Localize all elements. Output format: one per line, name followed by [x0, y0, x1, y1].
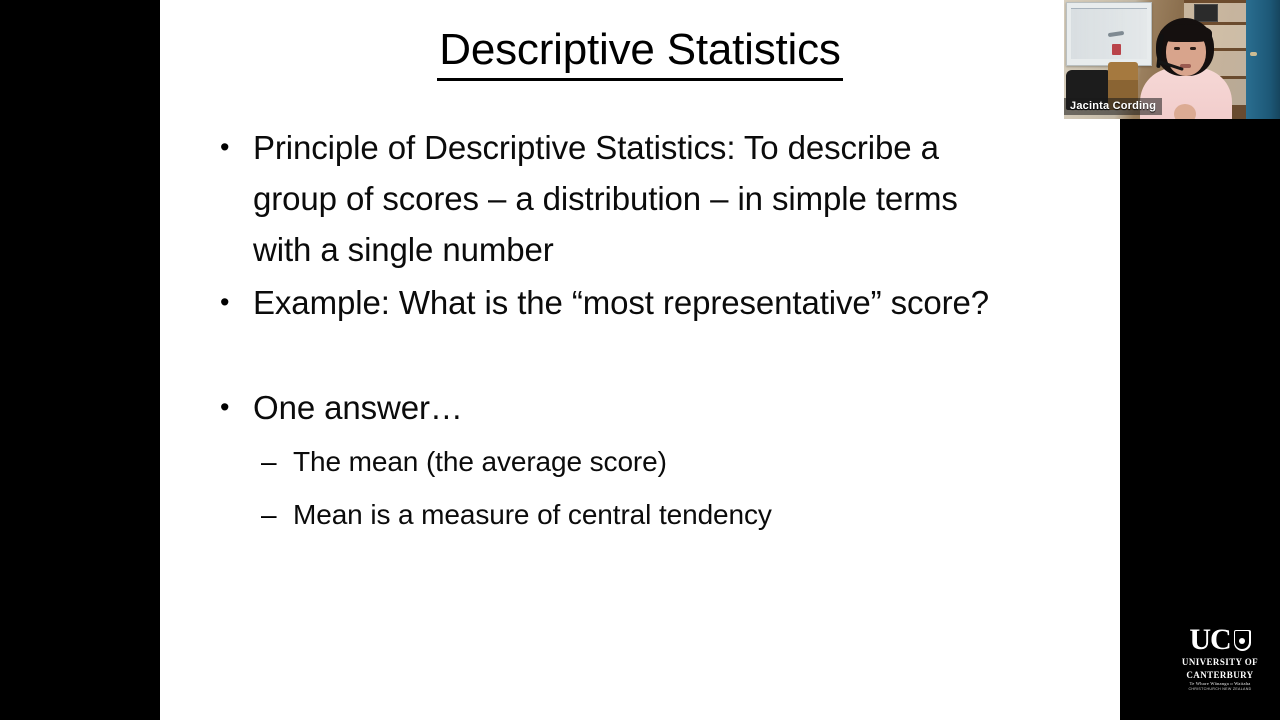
- sub-bullet-text: The mean (the average score): [293, 435, 1120, 488]
- presenter-fringe: [1160, 24, 1212, 42]
- presenter-hand: [1174, 104, 1196, 119]
- sub-bullet-text: Mean is a measure of central tendency: [293, 488, 1120, 541]
- bullet-text: One answer…: [253, 382, 1020, 433]
- bullet-item-principle: • Principle of Descriptive Statistics: T…: [220, 122, 1020, 275]
- logo-crest-icon: [1234, 630, 1251, 651]
- logo-name-line-1: UNIVERSITY OF: [1174, 657, 1266, 668]
- bullet-item-example: • Example: What is the “most representat…: [220, 277, 1020, 328]
- bullet-text: Example: What is the “most representativ…: [253, 277, 1020, 328]
- presentation-slide: Descriptive Statistics • Principle of De…: [160, 0, 1120, 720]
- bullet-text: Principle of Descriptive Statistics: To …: [253, 122, 1020, 275]
- sub-bullet-item-central-tendency: – Mean is a measure of central tendency: [261, 488, 1120, 541]
- bullet-list-spacer: [220, 330, 1120, 382]
- logo-mark-row: UC: [1174, 625, 1266, 655]
- door-handle-icon: [1250, 52, 1257, 56]
- slide-title-text: Descriptive Statistics: [437, 26, 842, 81]
- logo-name-line-2: CANTERBURY: [1174, 670, 1266, 681]
- bullet-marker-dot: •: [220, 382, 253, 433]
- video-player-viewport: Descriptive Statistics • Principle of De…: [0, 0, 1280, 720]
- university-logo: UC UNIVERSITY OF CANTERBURY Te Whare Wān…: [1174, 625, 1266, 692]
- bullet-marker-dash: –: [261, 435, 293, 488]
- slide-title: Descriptive Statistics: [160, 26, 1120, 81]
- slide-body-bullet-list: • Principle of Descriptive Statistics: T…: [220, 122, 1120, 541]
- bullet-marker-dot: •: [220, 277, 253, 328]
- participant-name-label: Jacinta Cording: [1064, 98, 1162, 115]
- whiteboard-marker: [1112, 44, 1121, 55]
- bullet-item-one-answer: • One answer…: [220, 382, 1020, 433]
- room-door: [1246, 0, 1280, 119]
- bullet-marker-dash: –: [261, 488, 293, 541]
- logo-city-line: CHRISTCHURCH NEW ZEALAND: [1174, 687, 1266, 692]
- logo-uc-monogram: UC: [1189, 625, 1230, 655]
- presenter-eye-right: [1190, 47, 1196, 50]
- sub-bullet-item-mean-definition: – The mean (the average score): [261, 435, 1120, 488]
- presenter-eye-left: [1174, 47, 1180, 50]
- presenter-webcam-overlay[interactable]: Jacinta Cording: [1064, 0, 1280, 119]
- bullet-marker-dot: •: [220, 122, 253, 173]
